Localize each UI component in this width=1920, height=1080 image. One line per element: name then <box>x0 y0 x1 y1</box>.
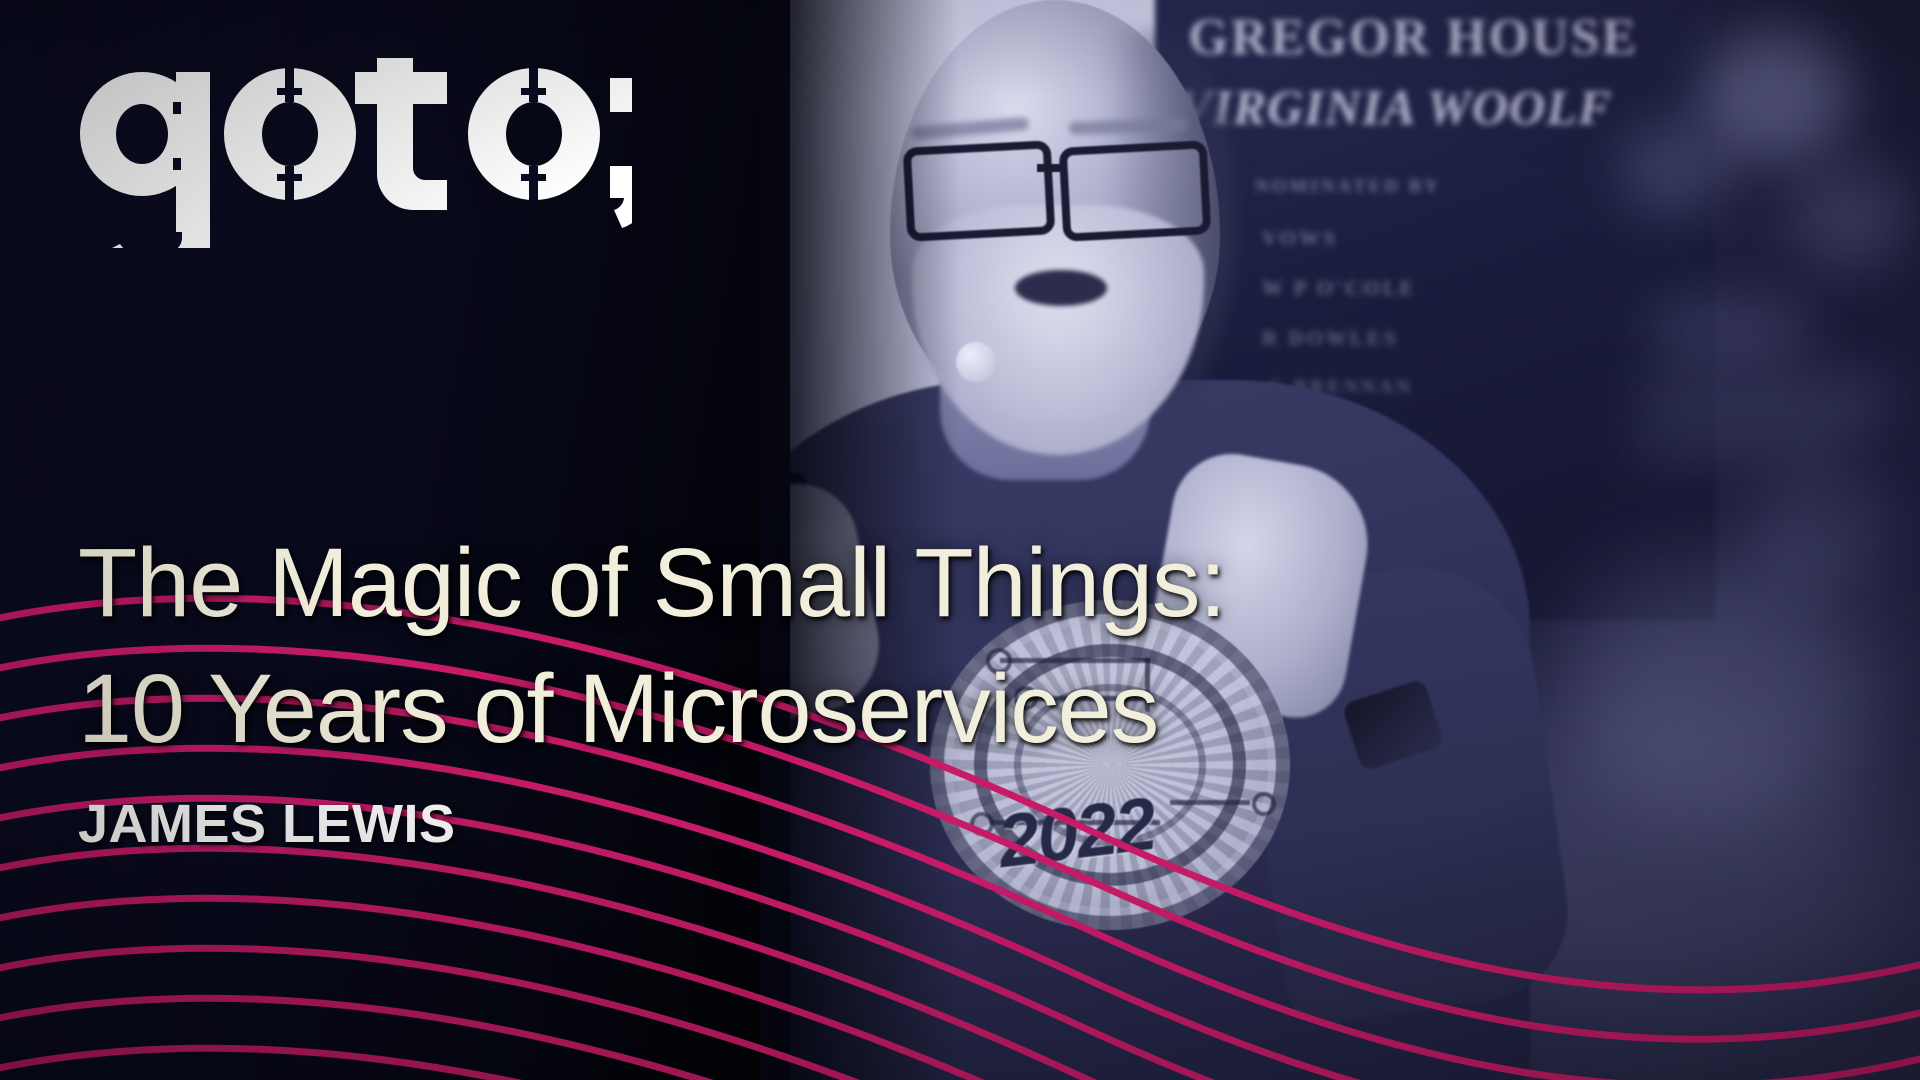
talk-title: The Magic of Small Things: 10 Years of M… <box>78 520 1858 772</box>
lapel-microphone <box>956 342 996 382</box>
circuit-node <box>970 812 994 836</box>
glasses-bridge <box>1037 164 1065 172</box>
goto-logo[interactable] <box>72 58 632 248</box>
speaker-mouth <box>1015 270 1107 306</box>
bokeh-blob <box>1700 30 1850 160</box>
lens-right <box>1059 140 1212 242</box>
circuit-trace <box>1170 800 1250 805</box>
speaker-name: JAMES LEWIS <box>78 793 456 855</box>
bokeh-blob <box>1790 160 1910 270</box>
circuit-node <box>1252 792 1276 816</box>
talk-title-card: GREGOR HOUSE Virginia Woolf NOMINATED BY… <box>0 0 1920 1080</box>
